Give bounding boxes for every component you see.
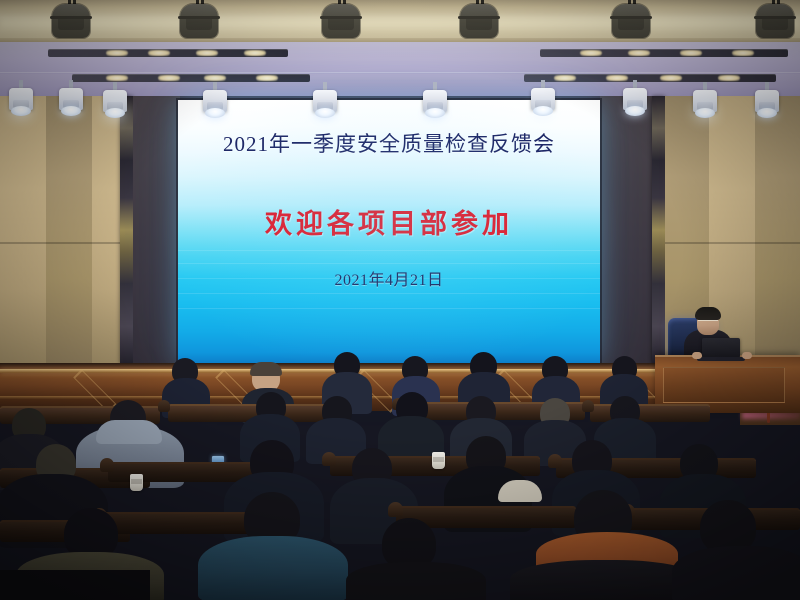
spotlight-icon: [100, 86, 130, 120]
spotlight-icon: [6, 84, 36, 118]
downlight-strip: [524, 74, 776, 82]
bench-knob: [322, 452, 336, 466]
spotlight-icon: [200, 86, 230, 120]
speaker-glasses: [698, 320, 718, 325]
wall-metal-strip: [652, 96, 665, 364]
speaker-hair: [695, 307, 721, 320]
speaker-laptop: [702, 338, 740, 358]
downlight-strip: [72, 74, 310, 82]
audience-hair: [250, 362, 282, 376]
projection-screen-frame: [176, 98, 602, 365]
audience-torso: [346, 562, 486, 600]
pendant-lamp-icon: [456, 0, 502, 42]
bench-knob: [548, 454, 562, 468]
wall-panel-seam: [665, 242, 800, 244]
bench-knob: [158, 400, 170, 412]
conference-hall-photo: 2021年一季度安全质量检查反馈会 欢迎各项目部参加 2021年4月21日: [0, 0, 800, 600]
wall-panel-tan: [46, 96, 92, 364]
spotlight-icon: [690, 86, 720, 120]
pendant-lamp-icon: [752, 0, 798, 42]
speaker-hand: [742, 352, 752, 359]
pendant-lamp-icon: [176, 0, 222, 42]
wall-metal-strip: [120, 96, 133, 364]
pendant-lamp-icon: [608, 0, 654, 42]
paper-cup: [432, 452, 445, 469]
audience-torso-teal-jacket: [198, 536, 348, 600]
speaker-hand: [692, 352, 702, 359]
wall-panel-tan: [92, 96, 120, 364]
spotlight-icon: [420, 86, 450, 120]
bench-row: [100, 512, 250, 534]
pendant-lamp-icon: [318, 0, 364, 42]
pendant-lamp-icon: [48, 0, 94, 42]
wall-panel-dark: [600, 96, 652, 364]
wall-panel-dark: [133, 96, 180, 364]
soffit-seam: [0, 72, 800, 73]
audience-torso: [672, 546, 800, 600]
spotlight-icon: [56, 84, 86, 118]
paper-cup: [130, 474, 143, 491]
cove-glow-light: [0, 16, 800, 30]
wall-panel-seam: [0, 242, 120, 244]
wall-panel-tan: [755, 96, 800, 364]
audience-torso: [0, 570, 150, 600]
spotlight-icon: [310, 86, 340, 120]
downlight-strip: [48, 49, 288, 57]
wall-panel-tan: [0, 96, 46, 364]
bench-knob: [100, 458, 114, 472]
bench-knob: [388, 502, 403, 517]
bench-knob: [582, 400, 594, 412]
hoodie-hood: [96, 420, 162, 444]
spotlight-icon: [620, 84, 650, 118]
downlight-strip: [540, 49, 788, 57]
spotlight-icon: [528, 84, 558, 118]
spotlight-icon: [752, 86, 782, 120]
audience-collar-white: [498, 480, 542, 502]
